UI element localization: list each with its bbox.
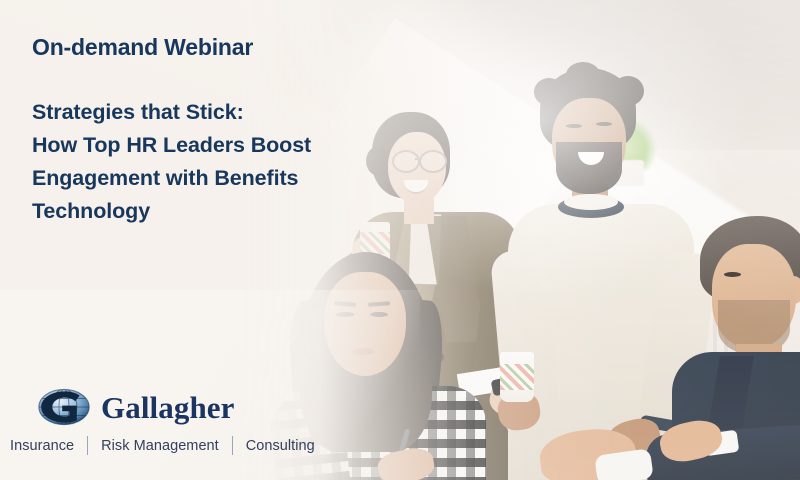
gallagher-globe-g-monogram-icon: [38, 388, 90, 426]
tagline-consulting: Consulting: [233, 438, 328, 454]
headline-line-4: Technology: [32, 195, 311, 228]
headline-line-3: Engagement with Benefits: [32, 162, 311, 195]
gallagher-wordmark: Gallagher: [101, 392, 235, 423]
headline: Strategies that Stick: How Top HR Leader…: [32, 96, 311, 228]
logo-tagline: Insurance Risk Management Consulting: [10, 436, 328, 455]
webinar-promo-banner: On-demand Webinar Strategies that Stick:…: [0, 0, 800, 480]
tagline-risk-management: Risk Management: [88, 438, 232, 454]
tagline-insurance: Insurance: [10, 438, 87, 454]
headline-line-2: How Top HR Leaders Boost: [32, 129, 311, 162]
headline-line-1: Strategies that Stick:: [32, 96, 311, 129]
gallagher-logo: Gallagher: [38, 388, 235, 426]
banner-content: On-demand Webinar Strategies that Stick:…: [0, 0, 800, 480]
eyebrow-label: On-demand Webinar: [32, 34, 253, 61]
